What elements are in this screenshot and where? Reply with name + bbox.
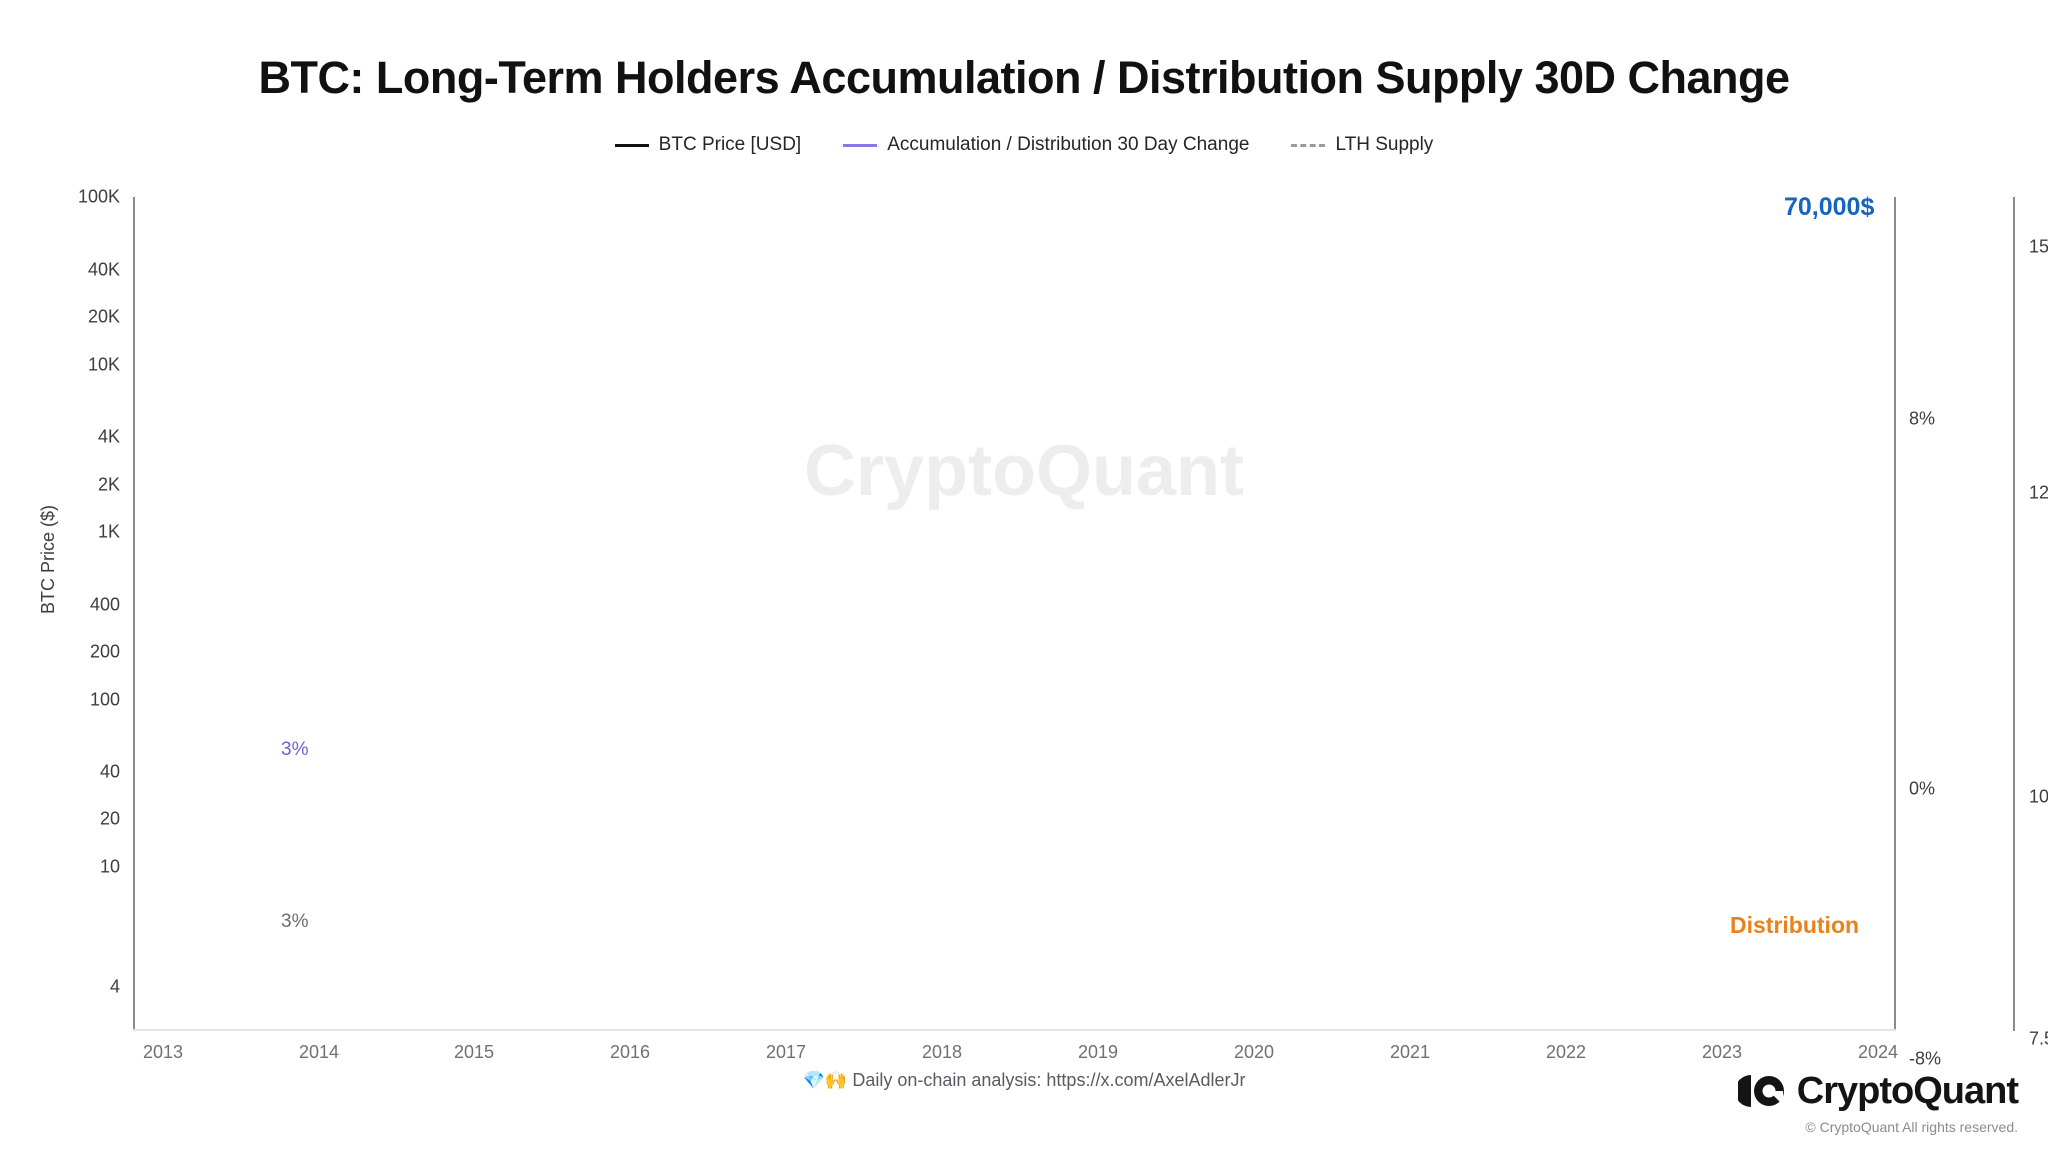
- x-tick-2020: 2020: [1234, 1042, 1274, 1063]
- x-tick-2014: 2014: [299, 1042, 339, 1063]
- threshold-label-upper: 3%: [281, 739, 308, 761]
- legend-swatch-accumulation: [843, 144, 877, 147]
- brand-name: CryptoQuant: [1797, 1072, 2018, 1110]
- x-tick-2024: 2024: [1858, 1042, 1898, 1063]
- legend-swatch-lth-supply: [1291, 144, 1325, 147]
- legend-label-accumulation: Accumulation / Distribution 30 Day Chang…: [887, 134, 1249, 156]
- plot-background: [133, 197, 1896, 1031]
- x-tick-2018: 2018: [922, 1042, 962, 1063]
- y-tick-price-6: 1K: [98, 522, 120, 543]
- chart-legend: BTC Price [USD] Accumulation / Distribut…: [0, 134, 2048, 156]
- threshold-label-lower: 3%: [281, 911, 308, 933]
- x-tick-2015: 2015: [454, 1042, 494, 1063]
- x-tick-2017: 2017: [766, 1042, 806, 1063]
- y-tick-price-3: 10K: [88, 355, 120, 376]
- chart-page: BTC: Long-Term Holders Accumulation / Di…: [0, 0, 2048, 1152]
- y-tick-supply-2: 10M: [2029, 787, 2048, 808]
- legend-item-btc-price[interactable]: BTC Price [USD]: [615, 134, 802, 156]
- y-tick-supply-0: 15M: [2029, 237, 2048, 258]
- legend-item-accumulation[interactable]: Accumulation / Distribution 30 Day Chang…: [843, 134, 1249, 156]
- y-tick-price-7: 400: [90, 595, 120, 616]
- legend-swatch-btc-price: [615, 144, 649, 147]
- axis-line-bottom: [133, 1029, 1896, 1031]
- copyright-text: © CryptoQuant All rights reserved.: [1738, 1119, 2018, 1135]
- y-tick-pct-0: 8%: [1909, 409, 1935, 430]
- distribution-annotation-label: Distribution: [1730, 912, 1859, 939]
- y-tick-price-12: 10: [100, 857, 120, 878]
- x-tick-2013: 2013: [143, 1042, 183, 1063]
- y-tick-price-8: 200: [90, 642, 120, 663]
- y-tick-supply-1: 12.5M: [2029, 483, 2048, 504]
- legend-item-lth-supply[interactable]: LTH Supply: [1291, 134, 1433, 156]
- axis-line-right-supply: [2013, 197, 2015, 1031]
- y-tick-pct-1: 0%: [1909, 779, 1935, 800]
- x-tick-2023: 2023: [1702, 1042, 1742, 1063]
- x-tick-2021: 2021: [1390, 1042, 1430, 1063]
- x-tick-2022: 2022: [1546, 1042, 1586, 1063]
- x-tick-2019: 2019: [1078, 1042, 1118, 1063]
- y-tick-price-11: 20: [100, 809, 120, 830]
- brand-block: CryptoQuant © CryptoQuant All rights res…: [1738, 1072, 2018, 1135]
- axis-line-right-percent: [1894, 197, 1896, 1031]
- y-tick-price-1: 40K: [88, 260, 120, 281]
- y-tick-price-13: 4: [110, 977, 120, 998]
- plot-area[interactable]: 3% 3% 100K 40K 20K 10K 4K 2K 1K 400 200 …: [133, 197, 1896, 1031]
- x-tick-2016: 2016: [610, 1042, 650, 1063]
- page-title: BTC: Long-Term Holders Accumulation / Di…: [0, 52, 2048, 104]
- price-callout-label: 70,000$: [1784, 193, 1874, 222]
- y-tick-price-10: 40: [100, 762, 120, 783]
- legend-label-btc-price: BTC Price [USD]: [659, 134, 802, 156]
- y-tick-price-5: 2K: [98, 475, 120, 496]
- y-tick-pct-2: -8%: [1909, 1049, 1941, 1070]
- y-tick-price-4: 4K: [98, 427, 120, 448]
- y-axis-title: BTC Price ($): [38, 505, 59, 614]
- cryptoquant-logo-icon: [1738, 1074, 1784, 1108]
- y-tick-supply-3: 7.5M: [2029, 1029, 2048, 1050]
- legend-label-lth-supply: LTH Supply: [1335, 134, 1433, 156]
- y-tick-price-9: 100: [90, 690, 120, 711]
- y-tick-price-2: 20K: [88, 307, 120, 328]
- axis-line-left: [133, 197, 135, 1031]
- y-tick-price-0: 100K: [78, 187, 120, 208]
